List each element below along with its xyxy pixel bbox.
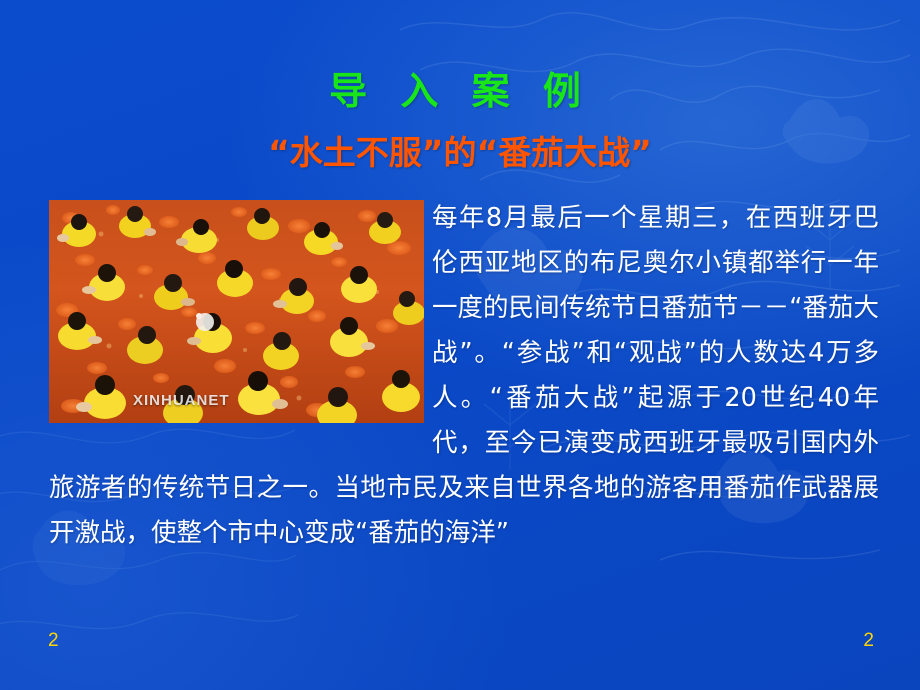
body-paragraph: 每年8月最后一个星期三，在西班牙巴伦西亚地区的布尼奥尔小镇都举行一年一度的民间传… [49, 196, 879, 556]
page-number-right: 2 [863, 630, 874, 652]
page-subtitle: “水土不服”的“番茄大战” [0, 126, 920, 174]
page-number-left: 2 [48, 630, 59, 652]
text-wrap-spacer [49, 196, 432, 424]
page-title: 导 入 案 例 [0, 60, 920, 115]
slide: 导 入 案 例 “水土不服”的“番茄大战” [0, 0, 920, 690]
